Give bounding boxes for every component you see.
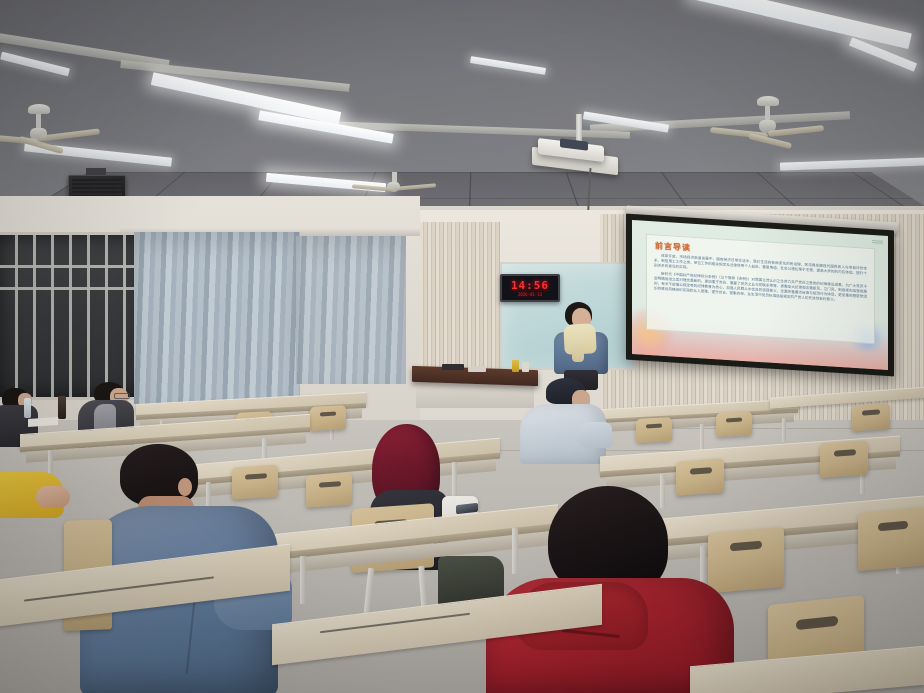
chair-backrest [716, 411, 752, 437]
lectern-cup[interactable] [522, 362, 529, 372]
window-curtain-secondary [296, 236, 406, 384]
desk-leg [300, 556, 306, 604]
ceiling-fan-cap-1 [28, 104, 50, 114]
chair-backrest [306, 472, 352, 507]
clock-date: 2026-01-13 [518, 293, 542, 297]
lectern-device-right[interactable] [468, 366, 486, 372]
window-bar-horizontal-top [0, 265, 143, 268]
ceiling-fan-blade-2b [768, 125, 824, 137]
student-glasses-icon [114, 393, 130, 399]
ceiling-light-10 [470, 56, 546, 75]
chair[interactable] [852, 403, 890, 432]
student-arm [578, 422, 612, 448]
chair-backrest [820, 440, 868, 477]
window-bar-horizontal-mid [0, 287, 143, 290]
chair-backrest [310, 405, 346, 431]
chair-backrest [852, 403, 890, 432]
student-hand [36, 486, 70, 508]
chair[interactable] [636, 417, 672, 443]
water-bottle-left[interactable] [24, 398, 31, 418]
chair[interactable] [820, 440, 868, 477]
lectern-device-left[interactable] [442, 364, 464, 370]
speaker-bracket [86, 168, 106, 175]
chair[interactable] [310, 405, 346, 431]
classroom-photo: 14:56 2026-01-13 前言导读 改革开放、市场经济高速发展中，国有经… [0, 0, 924, 693]
chair-backrest [858, 507, 924, 571]
ceiling-light-1 [689, 0, 912, 49]
student-red-hoodie [500, 486, 750, 693]
projection-screen[interactable]: 前言导读 改革开放、市场经济高速发展中，国有经济日常生活中，我们生活的各种变化的… [626, 214, 894, 377]
led-wall-clock[interactable]: 14:56 2026-01-13 [500, 274, 560, 302]
projection-screen-surface: 前言导读 改革开放、市场经济高速发展中，国有经济日常生活中，我们生活的各种变化的… [632, 220, 888, 370]
chair[interactable] [716, 411, 752, 437]
chair-handle-slot [646, 424, 662, 429]
student-ear [178, 478, 192, 496]
clock-time: 14:56 [511, 280, 549, 291]
chair-handle-slot [320, 412, 336, 417]
chair[interactable] [306, 472, 352, 507]
ceiling-light-8 [780, 157, 924, 170]
chair[interactable] [858, 507, 924, 571]
ceiling-light-9 [0, 52, 70, 77]
window-security-bars [0, 235, 143, 397]
chair-handle-slot [726, 418, 742, 423]
window-curtain-main [134, 232, 300, 404]
slide-title: 前言导读 [655, 240, 691, 253]
slide-body: 改革开放、市场经济高速发展中，国有经济日常生活中，我们生活的各种变化的民治理、民… [654, 253, 867, 307]
podium-base [416, 382, 534, 408]
ceiling-fan-blade-1b [40, 128, 100, 141]
slide-content-card: 前言导读 改革开放、市场经济高速发展中，国有经济日常生活中，我们生活的各种变化的… [646, 234, 875, 344]
lectern-bottle[interactable] [512, 360, 519, 372]
screen-brand-logo-icon [872, 240, 883, 245]
ceiling-fan-cap-2 [757, 96, 779, 106]
classroom-window [0, 232, 146, 400]
desk-leg [782, 418, 786, 442]
chair-backrest [636, 417, 672, 443]
presenter [548, 302, 614, 388]
water-bottle-dark[interactable] [58, 396, 66, 419]
presenter-scarf-tail [572, 336, 584, 362]
student-white-shirt [520, 378, 610, 464]
desk-leg [700, 424, 704, 450]
